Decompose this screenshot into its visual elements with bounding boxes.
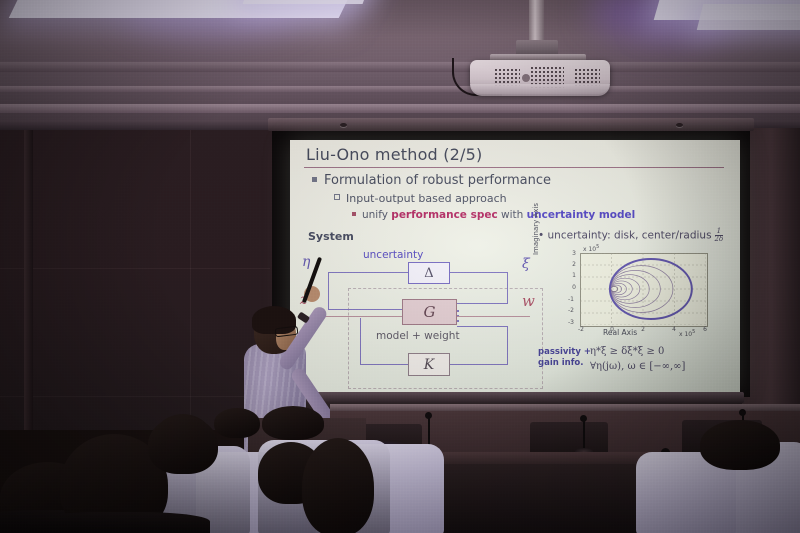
ytick-2: 2 (566, 261, 576, 268)
wire-g-bottom-out (457, 326, 508, 327)
signal-label-w: w (522, 292, 535, 310)
bullet-square-icon (312, 177, 317, 182)
nyquist-disk-plot: x 105 x 105 Imaginary Axis Real Axis 3 2… (548, 241, 720, 339)
bullet-level-1: Formulation of robust performance (312, 173, 551, 188)
model-weight-label: model + weight (376, 330, 460, 342)
plot-ylabel: Imaginary Axis (532, 199, 540, 259)
wire-k-feedback-left (360, 318, 361, 365)
wire-eta-to-delta (328, 272, 408, 273)
microphone-head-1 (425, 412, 432, 419)
ytick-0: 0 (566, 284, 576, 291)
signal-label-xi: ξ (522, 256, 530, 272)
ytick-3: 3 (566, 250, 576, 257)
wire-w-output (457, 316, 530, 317)
wire-g-to-xi (457, 303, 508, 304)
audience-head-8 (302, 438, 374, 533)
ceiling-light-panel-left-inner (243, 0, 374, 4)
slide-content: Liu-Ono method (2/5) Formulation of robu… (290, 140, 740, 392)
cornice-molding-2 (0, 86, 800, 92)
title-underline (304, 167, 724, 168)
xtick-2: 2 (638, 326, 648, 333)
roller-screw-left (340, 123, 347, 127)
plot-curves (580, 253, 706, 325)
screen-bottom-bar (282, 392, 744, 403)
cornice-molding-1 (0, 62, 800, 72)
panel-rail (330, 404, 800, 411)
passivity-label: passivity + gain info. (538, 347, 591, 370)
uncertainty-disk-text: • uncertainty: disk, center/radius (538, 229, 712, 241)
microphone-stem-2 (583, 418, 585, 452)
wall-seam-v (190, 130, 191, 430)
right-wall-panel (742, 128, 800, 428)
signal-label-eta: η (302, 254, 310, 270)
ytick-m1: -1 (564, 296, 574, 303)
roller-screw-right (676, 123, 683, 127)
equation-line-1: η*ξ ≥ δξ*ξ ≥ 0 (590, 345, 685, 360)
wire-k-feedback-right (507, 326, 508, 365)
wall-seam-h2 (0, 396, 260, 397)
wire-g-port-c (457, 310, 459, 312)
equation-line-2: ∀η(jω), ω ∈ [−∞,∞] (590, 360, 685, 375)
audience-head-9 (700, 420, 780, 470)
projector-lens-knob (522, 74, 530, 82)
lecture-hall-photo: Liu-Ono method (2/5) Formulation of robu… (0, 0, 800, 533)
passivity-line-1: passivity + (538, 347, 591, 358)
bullet-hollow-square-icon (334, 194, 340, 200)
wire-g-port-b (457, 320, 459, 322)
audience-head-5 (148, 416, 218, 474)
bullet-level-2: Input-output based approach (334, 192, 507, 205)
xtick-m2: -2 (576, 326, 586, 333)
passivity-equations: η*ξ ≥ δξ*ξ ≥ 0 ∀η(jω), ω ∈ [−∞,∞] (590, 345, 685, 374)
audience-head-7 (262, 406, 324, 440)
projector-pole (529, 0, 544, 44)
uncertainty-model-text: uncertainty model (527, 209, 636, 221)
ytick-1: 1 (566, 272, 576, 279)
microphone-head-3 (739, 409, 746, 416)
y-scale-exponent-label: x 105 (583, 244, 599, 253)
wire-delta-to-xi (450, 272, 508, 273)
g-block: G (402, 299, 457, 325)
with-text: with (498, 209, 527, 221)
cornice-molding-3 (0, 104, 800, 113)
audience-head-6 (214, 408, 260, 438)
xtick-4: 4 (669, 326, 679, 333)
passivity-line-2: gain info. (538, 358, 591, 369)
projector-lens-housing (470, 84, 610, 96)
slide-title: Liu-Ono method (2/5) (306, 145, 482, 164)
ceiling-light-panel-right-inner (697, 4, 800, 30)
k-block: K (408, 353, 450, 376)
wire-xi-down (507, 272, 508, 304)
xtick-0: 0 (607, 326, 617, 333)
bullet-small-square-icon (352, 212, 356, 216)
wall-seam-h (0, 268, 270, 269)
unify-prefix: unify (362, 209, 391, 221)
wire-to-k (360, 364, 408, 365)
x-scale-exponent-label: x 105 (679, 329, 695, 338)
performance-spec-text: performance spec (391, 209, 497, 221)
wall-pillar (24, 130, 33, 430)
xtick-6: 6 (700, 326, 710, 333)
delta-block: Δ (408, 262, 450, 284)
projection-screen: Liu-Ono method (2/5) Formulation of robu… (290, 140, 740, 392)
uncertainty-block-label: uncertainty (363, 249, 423, 261)
ytick-m2: -2 (564, 307, 574, 314)
bullet-level-1-label: Formulation of robust performance (324, 173, 551, 188)
wire-from-k (450, 364, 508, 365)
system-heading: System (308, 230, 354, 243)
ytick-m3: -3 (564, 319, 574, 326)
bullet-level-2-label: Input-output based approach (346, 192, 507, 205)
audience-shoulders-2 (30, 512, 210, 533)
bullet-level-3: unify performance spec with uncertainty … (352, 209, 635, 221)
microphone-head-2 (580, 415, 587, 422)
